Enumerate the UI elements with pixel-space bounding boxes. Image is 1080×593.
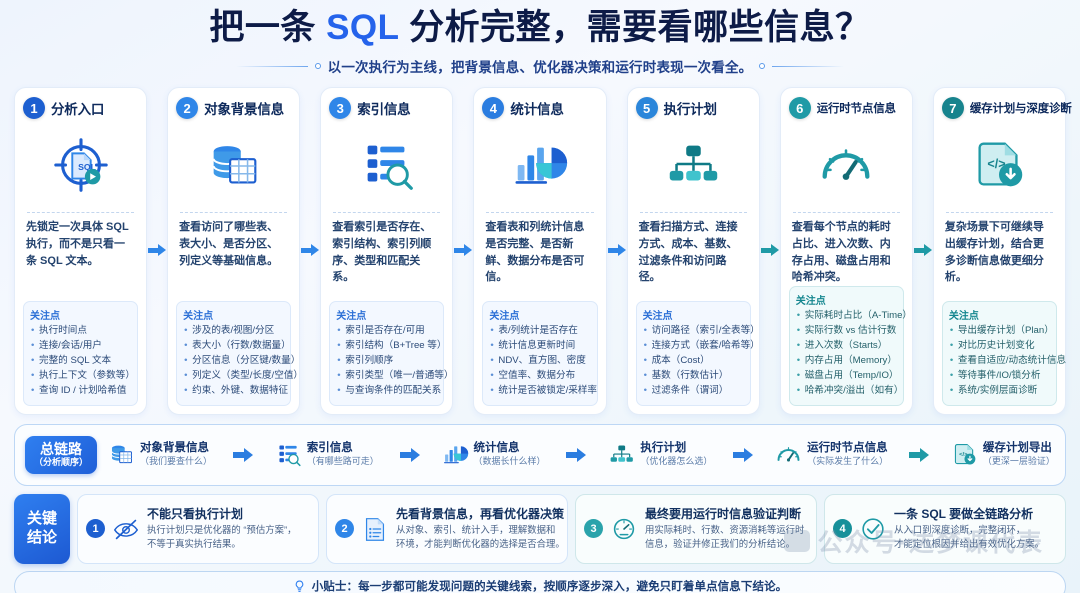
key-points-label: 关注点 <box>183 307 284 322</box>
step-card-description: 复杂场景下可继续导出缓存计划，结合更多诊断信息做更细分析。 <box>942 219 1057 286</box>
key-points-box: 关注点涉及的表/视图/分区表大小（行数/数据量）分区信息（分区键/数量）列定义（… <box>176 301 291 406</box>
key-point-item: 空值率、数据分布 <box>489 369 590 384</box>
chain-item-3[interactable]: 统计信息（数据长什么样） <box>441 440 546 469</box>
step-card-description: 查看表和列统计信息是否完整、是否新鲜、数据分布是否可信。 <box>482 219 597 286</box>
key-point-item: 涉及的表/视图/分区 <box>183 324 284 339</box>
step-card-header: 7缓存计划与深度诊断 <box>942 97 1057 119</box>
chain-item-note: （有哪些路可走） <box>307 456 379 468</box>
chain-item-title: 对象背景信息 <box>140 442 212 456</box>
tip-text: 小贴士：每一步都可能发现问题的关键线索，按顺序逐步深入，避免只盯着单点信息下结论… <box>312 578 788 593</box>
chain-item-6[interactable]: </>缓存计划导出（更深一层验证） <box>950 440 1055 469</box>
conclusion-number-badge: 3 <box>584 519 603 538</box>
conclusion-heading: 一条 SQL 要做全链路分析 <box>894 507 1044 523</box>
key-point-item: 表/列统计是否存在 <box>489 324 590 339</box>
key-points-label: 关注点 <box>643 307 744 322</box>
key-points-box: 关注点导出缓存计划（Plan）对比历史计划变化查看自适应/动态统计信息等待事件/… <box>942 301 1057 406</box>
key-points-box: 关注点实际耗时占比（A-Time）实际行数 vs 估计行数进入次数（Starts… <box>789 286 904 406</box>
conclusions-badge: 关键 结论 <box>14 494 70 564</box>
key-point-item: 过滤条件（谓词） <box>643 384 744 399</box>
step-card-header: 3索引信息 <box>329 97 444 119</box>
conclusion-body-line2: 才能定位根因并给出有效优化方案。 <box>894 537 1044 551</box>
card-divider <box>27 212 134 213</box>
key-point-item: 等待事件/IO/锁分析 <box>949 369 1050 384</box>
key-points-label: 关注点 <box>489 307 590 322</box>
lightbulb-icon <box>293 579 306 593</box>
bar-pie-chart-icon <box>482 121 597 209</box>
card-divider <box>180 212 287 213</box>
step-arrow-6 <box>913 87 933 415</box>
step-card-3[interactable]: 3索引信息查看索引是否存在、索引结构、索引列顺序、类型和匹配关系。关注点索引是否… <box>320 87 453 415</box>
chain-item-5[interactable]: 运行时节点信息（实际发生了什么） <box>774 440 888 469</box>
key-point-item: 对比历史计划变化 <box>949 339 1050 354</box>
chain-item-text: 索引信息（有哪些路可走） <box>307 442 379 467</box>
key-point-item: 成本（Cost） <box>643 354 744 369</box>
conclusion-body-line2: 环境，才能判断优化器的选择是否合理。 <box>396 537 559 551</box>
key-point-item: 完整的 SQL 文本 <box>30 354 131 369</box>
step-arrow-4 <box>607 87 627 415</box>
step-card-header: 5执行计划 <box>636 97 751 119</box>
key-point-item: 连接方式（嵌套/哈希等） <box>643 339 744 354</box>
key-point-item: 哈希冲突/溢出（如有） <box>796 384 897 399</box>
subtitle-dot-right-icon <box>759 63 765 69</box>
step-card-title: 缓存计划与深度诊断 <box>970 100 1072 116</box>
key-points-box: 关注点表/列统计是否存在统计信息更新时间NDV、直方图、密度空值率、数据分布统计… <box>482 301 597 406</box>
chain-arrow-5 <box>909 448 929 462</box>
card-divider <box>486 212 593 213</box>
chain-badge-line2: （分析顺序） <box>34 457 88 469</box>
key-points-label: 关注点 <box>30 307 131 322</box>
conclusion-body-line2: 信息，验证并修正我们的分析结论。 <box>645 537 804 551</box>
arrow-right-icon <box>148 244 166 257</box>
key-point-item: 列定义（类型/长度/空值） <box>183 369 284 384</box>
title-part-1: 把一条 <box>209 8 326 47</box>
key-point-item: 访问路径（索引/全表等） <box>643 324 744 339</box>
conclusion-heading: 不能只看执行计划 <box>147 507 296 523</box>
step-card-description: 查看访问了哪些表、表大小、是否分区、列定义等基础信息。 <box>176 219 291 269</box>
bar-pie-chart-icon <box>441 440 470 469</box>
conclusion-card-2[interactable]: 2先看背景信息，再看优化器决策从对象、索引、统计入手，理解数据和环境，才能判断优… <box>326 494 568 564</box>
key-points-box: 关注点索引是否存在/可用索引结构（B+Tree 等）索引列顺序索引类型（唯一/普… <box>329 301 444 406</box>
conclusion-text: 一条 SQL 要做全链路分析从入口到深度诊断，完整闭环，才能定位根因并给出有效优… <box>894 507 1044 550</box>
step-number-badge: 4 <box>482 97 504 119</box>
key-point-item: 查看自适应/动态统计信息 <box>949 354 1050 369</box>
key-point-item: 系统/实例层面诊断 <box>949 384 1050 399</box>
step-number-badge: 3 <box>329 97 351 119</box>
subtitle-row: 以一次执行为主线，把背景信息、优化器决策和运行时表现一次看全。 <box>14 56 1066 76</box>
conclusion-card-4[interactable]: 4一条 SQL 要做全链路分析从入口到深度诊断，完整闭环，才能定位根因并给出有效… <box>824 494 1066 564</box>
step-card-2[interactable]: 2对象背景信息查看访问了哪些表、表大小、是否分区、列定义等基础信息。关注点涉及的… <box>167 87 300 415</box>
chain-item-note: （实际发生了什么） <box>807 456 888 468</box>
step-card-title: 分析入口 <box>51 98 104 118</box>
sql-target-icon: SQL <box>23 121 138 209</box>
key-points-label: 关注点 <box>796 292 897 307</box>
conclusion-number-badge: 4 <box>833 519 852 538</box>
key-point-item: 统计信息更新时间 <box>489 339 590 354</box>
infographic-page: 把一条 SQL 分析完整，需要看哪些信息？ 以一次执行为主线，把背景信息、优化器… <box>0 0 1080 593</box>
step-card-description: 查看每个节点的耗时占比、进入次数、内存占用、磁盘占用和哈希冲突。 <box>789 219 904 286</box>
plan-tree-icon <box>636 121 751 209</box>
database-table-icon <box>176 121 291 209</box>
chain-arrow-4 <box>733 448 753 462</box>
key-point-item: 执行时间点 <box>30 324 131 339</box>
step-card-7[interactable]: 7缓存计划与深度诊断</>复杂场景下可继续导出缓存计划，结合更多诊断信息做更细分… <box>933 87 1066 415</box>
tip-bar: 小贴士：每一步都可能发现问题的关键线索，按顺序逐步深入，避免只盯着单点信息下结论… <box>14 571 1066 593</box>
conclusion-heading: 最终要用运行时信息验证判断 <box>645 507 804 523</box>
subtitle-rule-left <box>236 66 308 67</box>
key-point-item: 查询 ID / 计划哈希值 <box>30 384 131 399</box>
conclusions-badge-line1: 关键 <box>27 510 57 528</box>
key-points-list: 访问路径（索引/全表等）连接方式（嵌套/哈希等）成本（Cost）基数（行数估计）… <box>643 324 744 399</box>
step-arrow-2 <box>300 87 320 415</box>
subtitle-rule-right <box>772 66 844 67</box>
chain-item-text: 运行时节点信息（实际发生了什么） <box>807 442 888 467</box>
chain-item-text: 统计信息（数据长什么样） <box>474 442 546 467</box>
plan-export-icon: </> <box>942 121 1057 209</box>
conclusion-text: 先看背景信息，再看优化器决策从对象、索引、统计入手，理解数据和环境，才能判断优化… <box>396 507 559 550</box>
key-point-item: 索引是否存在/可用 <box>336 324 437 339</box>
arrow-right-icon <box>454 244 472 257</box>
conclusion-body-line1: 从入口到深度诊断，完整闭环， <box>894 523 1044 537</box>
chain-item-text: 对象背景信息（我们要查什么） <box>140 442 212 467</box>
key-point-item: 执行上下文（参数等） <box>30 369 131 384</box>
database-table-icon <box>107 440 136 469</box>
arrow-right-icon <box>608 244 626 257</box>
key-points-list: 表/列统计是否存在统计信息更新时间NDV、直方图、密度空值率、数据分布统计是否被… <box>489 324 590 399</box>
key-points-list: 索引是否存在/可用索引结构（B+Tree 等）索引列顺序索引类型（唯一/普通等）… <box>336 324 437 399</box>
conclusion-card-1[interactable]: 1不能只看执行计划执行计划只是优化器的 “预估方案”，不等于真实执行结果。 <box>77 494 319 564</box>
arrow-right-icon <box>761 244 779 257</box>
key-point-item: 磁盘占用（Temp/IO） <box>796 369 897 384</box>
step-card-header: 4统计信息 <box>482 97 597 119</box>
subtitle-dot-left-icon <box>315 63 321 69</box>
key-point-item: 分区信息（分区键/数量） <box>183 354 284 369</box>
step-number-badge: 6 <box>789 97 811 119</box>
header: 把一条 SQL 分析完整，需要看哪些信息？ 以一次执行为主线，把背景信息、优化器… <box>14 0 1066 76</box>
chain-item-title: 运行时节点信息 <box>807 442 888 456</box>
conclusion-text: 不能只看执行计划执行计划只是优化器的 “预估方案”，不等于真实执行结果。 <box>147 507 296 550</box>
key-points-box: 关注点访问路径（索引/全表等）连接方式（嵌套/哈希等）成本（Cost）基数（行数… <box>636 301 751 406</box>
key-point-item: NDV、直方图、密度 <box>489 354 590 369</box>
step-arrow-3 <box>453 87 473 415</box>
arrow-right-icon <box>914 244 932 257</box>
conclusion-body-line1: 从对象、索引、统计入手，理解数据和 <box>396 523 559 537</box>
check-circle-icon <box>858 514 888 544</box>
conclusion-body-line2: 不等于真实执行结果。 <box>147 537 296 551</box>
chain-item-note: （数据长什么样） <box>474 456 546 468</box>
key-points-list: 执行时间点连接/会话/用户完整的 SQL 文本执行上下文（参数等）查询 ID /… <box>30 324 131 399</box>
key-point-item: 与查询条件的匹配关系 <box>336 384 437 399</box>
chain-badge-line1: 总链路 <box>34 441 88 457</box>
key-point-item: 实际耗时占比（A-Time） <box>796 309 897 324</box>
chain-item-text: 缓存计划导出（更深一层验证） <box>983 442 1055 467</box>
chain-item-text: 执行计划（优化器怎么选） <box>640 442 712 467</box>
step-card-4[interactable]: 4统计信息查看表和列统计信息是否完整、是否新鲜、数据分布是否可信。关注点表/列统… <box>473 87 606 415</box>
index-search-icon <box>329 121 444 209</box>
card-divider <box>333 212 440 213</box>
chain-arrow-1 <box>233 448 253 462</box>
chain-arrow-2 <box>400 448 420 462</box>
step-number-badge: 2 <box>176 97 198 119</box>
key-point-item: 索引结构（B+Tree 等） <box>336 339 437 354</box>
key-points-label: 关注点 <box>336 307 437 322</box>
index-search-icon <box>274 440 303 469</box>
step-number-badge: 7 <box>942 97 964 119</box>
key-point-item: 表大小（行数/数据量） <box>183 339 284 354</box>
conclusion-body-line1: 用实际耗时、行数、资源消耗等运行时 <box>645 523 804 537</box>
key-point-item: 统计是否被锁定/采样率 <box>489 384 590 399</box>
chain-badge: 总链路 （分析顺序） <box>25 436 97 474</box>
chain-item-note: （优化器怎么选） <box>640 456 712 468</box>
key-point-item: 索引类型（唯一/普通等） <box>336 369 437 384</box>
plan-export-icon: </> <box>950 440 979 469</box>
chain-arrow-3 <box>566 448 586 462</box>
conclusion-cards: 1不能只看执行计划执行计划只是优化器的 “预估方案”，不等于真实执行结果。2先看… <box>77 494 1066 564</box>
step-arrow-1 <box>147 87 167 415</box>
title-part-2: 分析完整，需要看哪些信息？ <box>399 8 871 47</box>
step-card-description: 先锁定一次具体 SQL 执行，而不是只看一条 SQL 文本。 <box>23 219 138 269</box>
key-point-item: 连接/会话/用户 <box>30 339 131 354</box>
document-list-icon <box>360 514 390 544</box>
chain-item-2[interactable]: 索引信息（有哪些路可走） <box>274 440 379 469</box>
card-divider <box>640 212 747 213</box>
conclusions-badge-line2: 结论 <box>27 529 57 547</box>
conclusion-number-badge: 2 <box>335 519 354 538</box>
step-card-title: 运行时节点信息 <box>817 100 896 116</box>
title-highlight: SQL <box>326 8 399 47</box>
step-number-badge: 5 <box>636 97 658 119</box>
key-points-label: 关注点 <box>949 307 1050 322</box>
step-card-title: 对象背景信息 <box>204 98 284 118</box>
conclusion-text: 最终要用运行时信息验证判断用实际耗时、行数、资源消耗等运行时信息，验证并修正我们… <box>645 507 804 550</box>
gauge-small-icon <box>609 514 639 544</box>
step-card-6[interactable]: 6运行时节点信息查看每个节点的耗时占比、进入次数、内存占用、磁盘占用和哈希冲突。… <box>780 87 913 415</box>
chain-item-1[interactable]: 对象背景信息（我们要查什么） <box>107 440 212 469</box>
step-card-header: 6运行时节点信息 <box>789 97 904 119</box>
gauge-metrics-icon <box>789 121 904 209</box>
card-divider <box>793 212 900 213</box>
chain-item-title: 统计信息 <box>474 442 546 456</box>
gauge-metrics-icon <box>774 440 803 469</box>
step-card-title: 索引信息 <box>357 98 410 118</box>
page-subtitle: 以一次执行为主线，把背景信息、优化器决策和运行时表现一次看全。 <box>328 56 753 76</box>
plan-tree-icon <box>607 440 636 469</box>
step-number-badge: 1 <box>23 97 45 119</box>
key-point-item: 实际行数 vs 估计行数 <box>796 324 897 339</box>
step-arrow-5 <box>760 87 780 415</box>
step-card-header: 2对象背景信息 <box>176 97 291 119</box>
key-points-list: 涉及的表/视图/分区表大小（行数/数据量）分区信息（分区键/数量）列定义（类型/… <box>183 324 284 399</box>
conclusion-body-line1: 执行计划只是优化器的 “预估方案”， <box>147 523 296 537</box>
conclusion-number-badge: 1 <box>86 519 105 538</box>
step-card-description: 查看索引是否存在、索引结构、索引列顺序、类型和匹配关系。 <box>329 219 444 286</box>
eye-off-icon <box>111 514 141 544</box>
conclusion-heading: 先看背景信息，再看优化器决策 <box>396 507 559 523</box>
key-points-list: 实际耗时占比（A-Time）实际行数 vs 估计行数进入次数（Starts）内存… <box>796 309 897 399</box>
key-point-item: 导出缓存计划（Plan） <box>949 324 1050 339</box>
key-point-item: 索引列顺序 <box>336 354 437 369</box>
key-point-item: 进入次数（Starts） <box>796 339 897 354</box>
key-point-item: 基数（行数估计） <box>643 369 744 384</box>
step-card-title: 执行计划 <box>664 98 717 118</box>
conclusion-card-3[interactable]: 3最终要用运行时信息验证判断用实际耗时、行数、资源消耗等运行时信息，验证并修正我… <box>575 494 817 564</box>
steps-row: 1分析入口SQL先锁定一次具体 SQL 执行，而不是只看一条 SQL 文本。关注… <box>14 87 1066 415</box>
key-points-list: 导出缓存计划（Plan）对比历史计划变化查看自适应/动态统计信息等待事件/IO/… <box>949 324 1050 399</box>
arrow-right-icon <box>301 244 319 257</box>
chain-item-note: （我们要查什么） <box>140 456 212 468</box>
step-card-5[interactable]: 5执行计划查看扫描方式、连接方式、成本、基数、过滤条件和访问路径。关注点访问路径… <box>627 87 760 415</box>
chain-path-bar: 总链路 （分析顺序） 对象背景信息（我们要查什么）索引信息（有哪些路可走）统计信… <box>14 424 1066 486</box>
key-points-box: 关注点执行时间点连接/会话/用户完整的 SQL 文本执行上下文（参数等）查询 I… <box>23 301 138 406</box>
key-point-item: 约束、外键、数据特征 <box>183 384 284 399</box>
conclusions-row: 关键 结论 1不能只看执行计划执行计划只是优化器的 “预估方案”，不等于真实执行… <box>14 494 1066 564</box>
page-title: 把一条 SQL 分析完整，需要看哪些信息？ <box>14 8 1066 47</box>
chain-item-4[interactable]: 执行计划（优化器怎么选） <box>607 440 712 469</box>
chain-item-title: 索引信息 <box>307 442 379 456</box>
chain-items: 对象背景信息（我们要查什么）索引信息（有哪些路可走）统计信息（数据长什么样）执行… <box>103 440 1055 469</box>
step-card-description: 查看扫描方式、连接方式、成本、基数、过滤条件和访问路径。 <box>636 219 751 286</box>
chain-item-note: （更深一层验证） <box>983 456 1055 468</box>
card-divider <box>946 212 1053 213</box>
chain-item-title: 执行计划 <box>640 442 712 456</box>
key-point-item: 内存占用（Memory） <box>796 354 897 369</box>
chain-item-title: 缓存计划导出 <box>983 442 1055 456</box>
step-card-title: 统计信息 <box>510 98 563 118</box>
step-card-header: 1分析入口 <box>23 97 138 119</box>
step-card-1[interactable]: 1分析入口SQL先锁定一次具体 SQL 执行，而不是只看一条 SQL 文本。关注… <box>14 87 147 415</box>
